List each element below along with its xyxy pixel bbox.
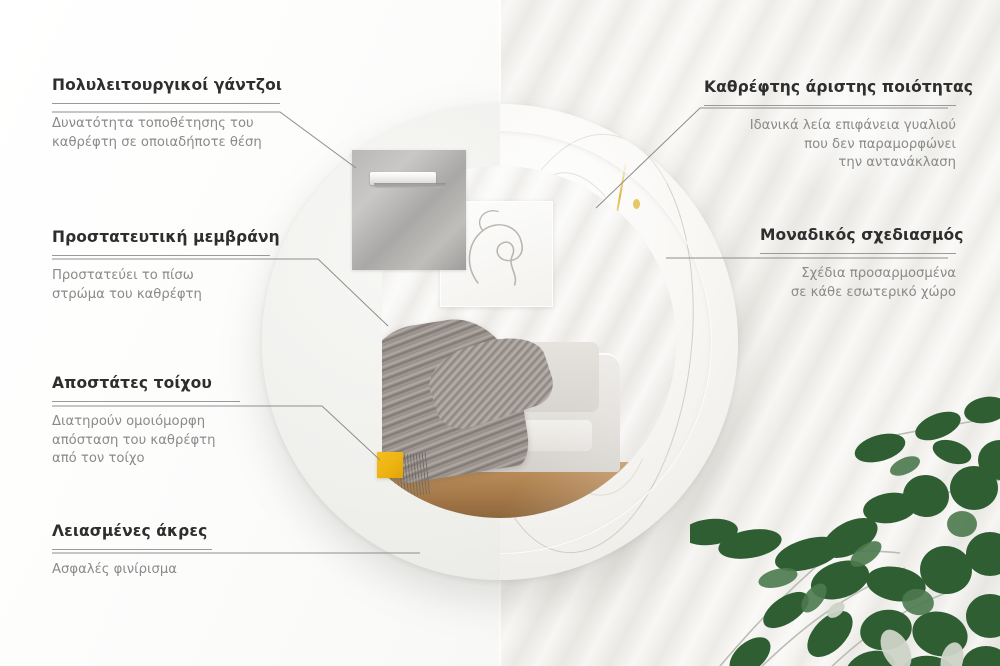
feature-title: Μοναδικός σχεδιασμός bbox=[760, 226, 956, 244]
product-feature-infographic: Πολυλειτουργικοί γάντζοι Δυνατότητα τοπο… bbox=[0, 0, 1000, 666]
feature-rule bbox=[52, 401, 240, 402]
feature-desc: Ασφαλές φινίρισμα bbox=[52, 561, 212, 580]
feature-rule bbox=[52, 103, 280, 104]
feature-block-quality-mirror: Καθρέφτης άριστης ποιότητας Ιδανικά λεία… bbox=[704, 78, 956, 173]
feature-block-membrane: Προστατευτική μεμβράνη Προστατεύει το πί… bbox=[52, 228, 270, 304]
wall-spacer-block bbox=[377, 452, 403, 478]
feature-block-spacers: Αποστάτες τοίχου Διατηρούν ομοιόμορφη απ… bbox=[52, 374, 240, 469]
feature-title: Προστατευτική μεμβράνη bbox=[52, 228, 270, 246]
feature-desc: Ιδανικά λεία επιφάνεια γυαλιού που δεν π… bbox=[704, 117, 956, 173]
feature-title: Αποστάτες τοίχου bbox=[52, 374, 240, 392]
feature-desc: Σχέδια προσαρμοσμένα σε κάθε εσωτερικό χ… bbox=[760, 265, 956, 302]
hanging-hook-plate bbox=[352, 150, 466, 270]
feature-title: Πολυλειτουργικοί γάντζοι bbox=[52, 76, 280, 94]
feature-title: Λειασμένες άκρες bbox=[52, 522, 212, 540]
feature-rule bbox=[704, 105, 956, 106]
mirror-product bbox=[262, 104, 738, 580]
feature-block-edges: Λειασμένες άκρες Ασφαλές φινίρισμα bbox=[52, 522, 212, 580]
feature-desc: Διατηρούν ομοιόμορφη απόσταση του καθρέφ… bbox=[52, 413, 240, 469]
feature-desc: Προστατεύει το πίσω στρώμα του καθρέφτη bbox=[52, 267, 270, 304]
feature-block-hooks: Πολυλειτουργικοί γάντζοι Δυνατότητα τοπο… bbox=[52, 76, 280, 152]
feature-block-unique-design: Μοναδικός σχεδιασμός Σχέδια προσαρμοσμέν… bbox=[760, 226, 956, 302]
feature-desc: Δυνατότητα τοποθέτησης του καθρέφτη σε ο… bbox=[52, 115, 280, 152]
hook-lip bbox=[374, 183, 446, 188]
feature-rule bbox=[52, 549, 212, 550]
feature-title: Καθρέφτης άριστης ποιότητας bbox=[704, 78, 956, 96]
feature-rule bbox=[52, 255, 270, 256]
feature-rule bbox=[760, 253, 956, 254]
eucalyptus-plant bbox=[690, 348, 1000, 666]
